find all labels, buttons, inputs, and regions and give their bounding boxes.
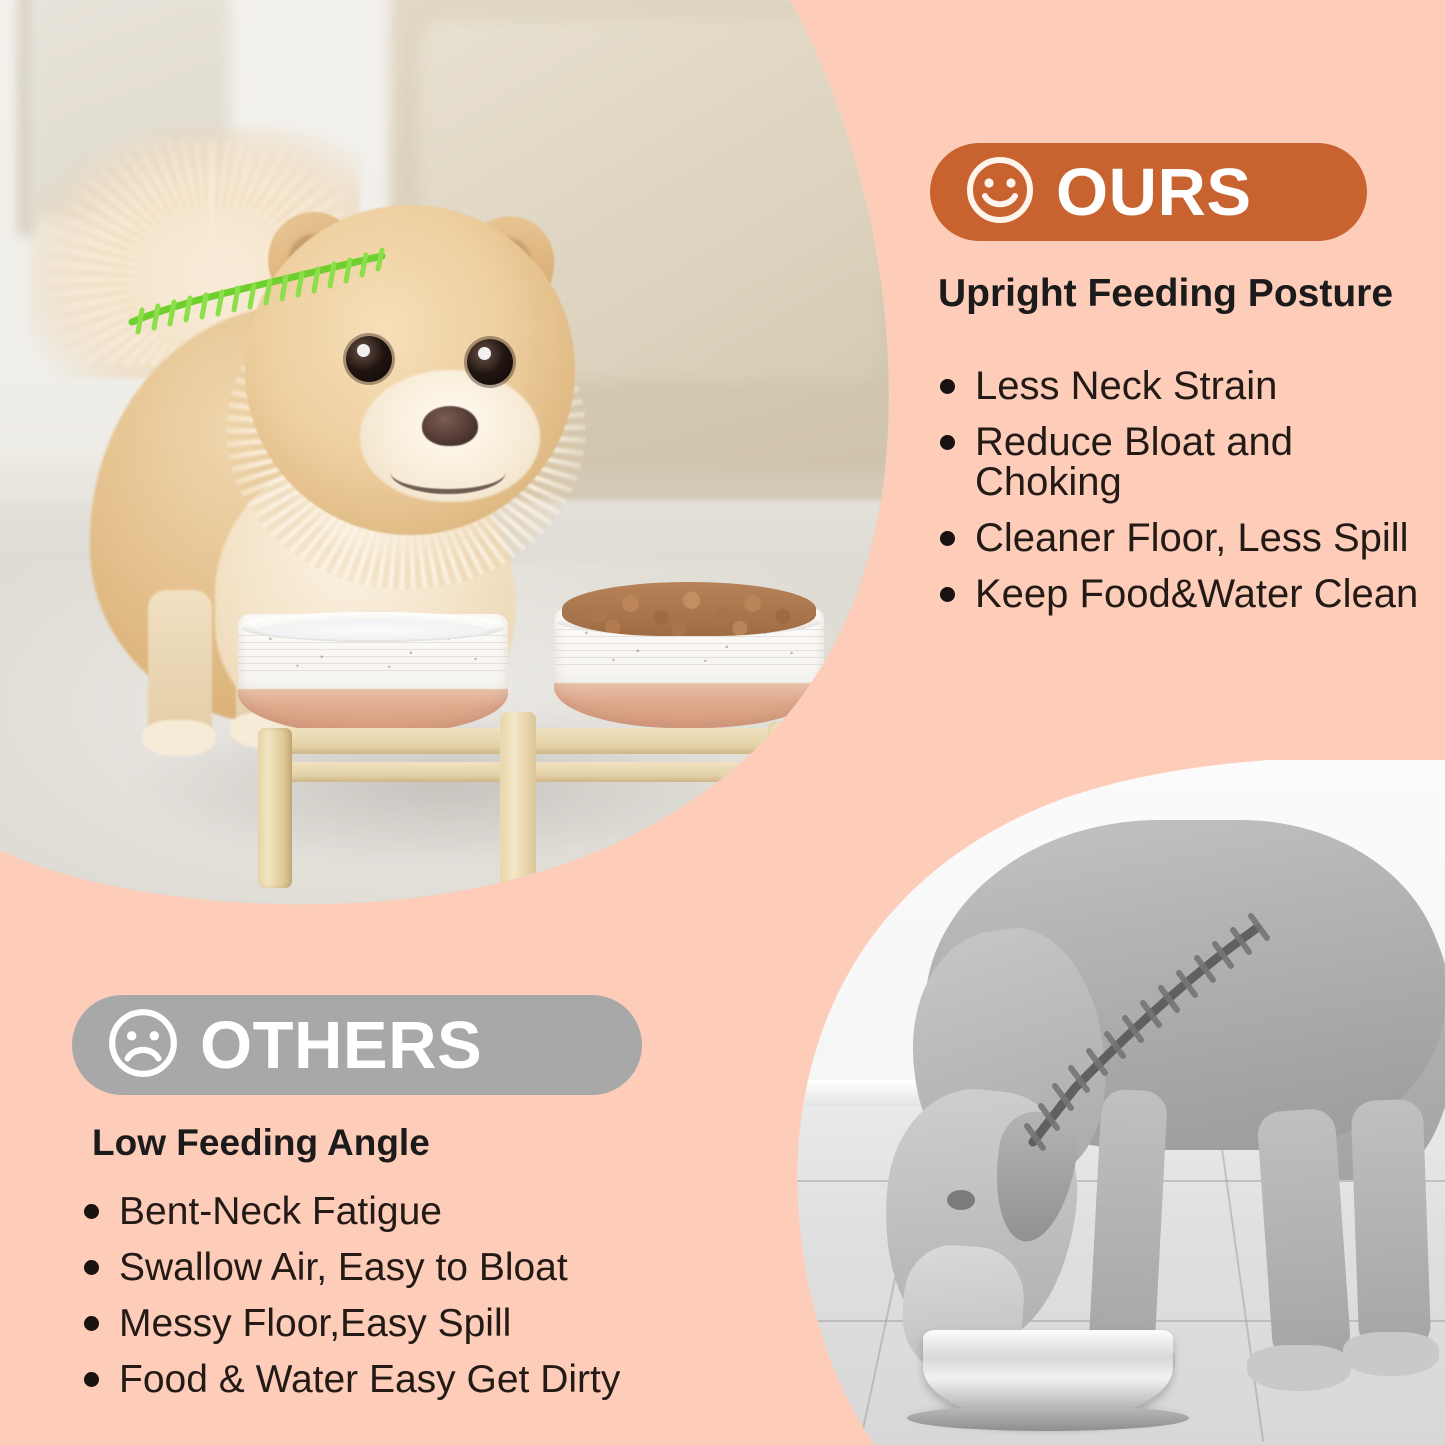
elevated-bowl-stand-product	[232, 600, 832, 900]
bullet-dot-icon	[84, 1260, 99, 1275]
list-item: Reduce Bloat and Choking	[940, 422, 1445, 502]
others-subheading: Low Feeding Angle	[92, 1122, 430, 1164]
list-item-label: Bent-Neck Fatigue	[119, 1192, 442, 1231]
dog-rear-leg-far	[1351, 1099, 1432, 1351]
others-badge: OTHERS	[72, 995, 642, 1095]
list-item-label: Messy Floor,Easy Spill	[119, 1304, 511, 1343]
list-item: Messy Floor,Easy Spill	[84, 1304, 620, 1343]
water-surface	[258, 620, 488, 640]
list-item-label: Less Neck Strain	[975, 366, 1277, 406]
ours-lifestyle-photo	[0, 0, 905, 925]
bullet-dot-icon	[940, 379, 955, 394]
dog-paw	[1343, 1332, 1439, 1376]
list-item-label: Keep Food&Water Clean	[975, 574, 1418, 614]
list-item: Cleaner Floor, Less Spill	[940, 518, 1445, 558]
food-bowl	[554, 608, 824, 728]
bullet-dot-icon	[84, 1204, 99, 1219]
smiley-face-icon	[964, 154, 1036, 231]
stand-leg-left	[258, 728, 292, 888]
dog-mouth	[390, 450, 506, 494]
others-badge-label: OTHERS	[200, 1012, 482, 1079]
ours-badge-label: OURS	[1056, 159, 1252, 226]
list-item: Bent-Neck Fatigue	[84, 1192, 620, 1231]
bullet-dot-icon	[940, 587, 955, 602]
strained-spine-overlay-icon	[955, 910, 1275, 1210]
comparison-infographic: OURS Upright Feeding Posture Less Neck S…	[0, 0, 1445, 1445]
ours-benefit-list: Less Neck Strain Reduce Bloat and Chokin…	[940, 366, 1445, 630]
ours-subheading: Upright Feeding Posture	[938, 272, 1393, 316]
dog-nose	[422, 406, 478, 446]
list-item-label: Reduce Bloat and Choking	[975, 422, 1445, 502]
kibble-food	[562, 582, 816, 636]
list-item-label: Swallow Air, Easy to Bloat	[119, 1248, 568, 1287]
bullet-dot-icon	[940, 435, 955, 450]
list-item: Keep Food&Water Clean	[940, 574, 1445, 614]
stand-leg-center	[500, 712, 536, 892]
list-item: Food & Water Easy Get Dirty	[84, 1360, 620, 1399]
stand-leg-right	[768, 722, 802, 890]
list-item-label: Cleaner Floor, Less Spill	[975, 518, 1409, 558]
dog-paw	[1247, 1345, 1351, 1391]
bullet-dot-icon	[84, 1316, 99, 1331]
list-item-label: Food & Water Easy Get Dirty	[119, 1360, 620, 1399]
dog-right-eye	[467, 339, 513, 385]
list-item: Less Neck Strain	[940, 366, 1445, 406]
list-item: Swallow Air, Easy to Bloat	[84, 1248, 620, 1287]
dog-front-paw	[142, 720, 216, 756]
others-lifestyle-photo	[795, 760, 1445, 1445]
healthy-spine-overlay-icon	[120, 248, 410, 368]
stainless-floor-bowl	[923, 1330, 1173, 1422]
water-bowl	[238, 614, 508, 734]
sad-face-icon	[106, 1006, 180, 1085]
dog-front-leg	[148, 590, 212, 740]
ours-badge: OURS	[930, 143, 1367, 241]
bullet-dot-icon	[940, 531, 955, 546]
bullet-dot-icon	[84, 1372, 99, 1387]
others-drawback-list: Bent-Neck Fatigue Swallow Air, Easy to B…	[84, 1192, 620, 1416]
